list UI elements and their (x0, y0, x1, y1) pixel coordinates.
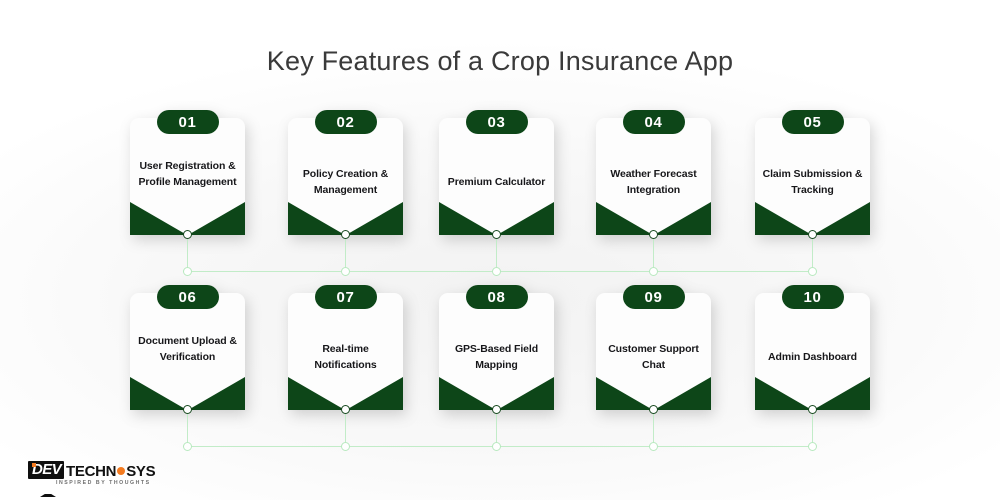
logo-name: TECHN SYS (66, 464, 155, 479)
page-title: Key Features of a Crop Insurance App (0, 46, 1000, 77)
bus-node-dot (649, 442, 658, 451)
card-number-badge: 01 (157, 110, 219, 134)
feature-card[interactable]: Customer Support Chat 09 (596, 285, 711, 410)
logo-wordmark: DEV TECHN SYS (28, 461, 153, 479)
corner-triangle-right-icon (188, 377, 245, 410)
bus-node-dot (183, 267, 192, 276)
card-body: Policy Creation & Management (288, 118, 403, 235)
card-connector-dot (649, 405, 658, 414)
feature-row-top: User Registration & Profile Management 0… (0, 110, 1000, 240)
card-number-badge: 04 (623, 110, 685, 134)
card-label: Claim Submission & Tracking (759, 152, 866, 214)
card-connector-dot (649, 230, 658, 239)
feature-card[interactable]: Admin Dashboard 10 (755, 285, 870, 410)
card-connector-dot (341, 405, 350, 414)
card-label: Policy Creation & Management (292, 152, 399, 214)
card-connector-dot (341, 230, 350, 239)
card-label: GPS-Based Field Mapping (443, 327, 550, 389)
feature-card[interactable]: Policy Creation & Management 02 (288, 110, 403, 235)
bus-node-dot (808, 267, 817, 276)
corner-triangle-right-icon (188, 202, 245, 235)
card-connector-dot (808, 230, 817, 239)
bus-node-dot (183, 442, 192, 451)
card-number-badge: 05 (782, 110, 844, 134)
card-body: Admin Dashboard (755, 293, 870, 410)
card-label: Admin Dashboard (759, 327, 866, 389)
corner-triangle-left-icon (130, 377, 187, 410)
card-label: Weather Forecast Integration (600, 152, 707, 214)
card-connector-dot (492, 405, 501, 414)
card-label: Document Upload & Verification (134, 319, 241, 381)
card-number-badge: 09 (623, 285, 685, 309)
card-body: GPS-Based Field Mapping (439, 293, 554, 410)
feature-card[interactable]: Weather Forecast Integration 04 (596, 110, 711, 235)
bus-node-dot (492, 442, 501, 451)
card-connector-dot (183, 405, 192, 414)
feature-card[interactable]: Premium Calculator 03 (439, 110, 554, 235)
bus-node-dot (341, 267, 350, 276)
feature-card[interactable]: GPS-Based Field Mapping 08 (439, 285, 554, 410)
logo-monitor-stand-icon (40, 494, 56, 497)
brand-logo[interactable]: DEV TECHN SYS INSPIRED BY THOUGHTS (28, 461, 153, 493)
card-label: Customer Support Chat (600, 327, 707, 389)
corner-triangle-left-icon (130, 202, 187, 235)
card-label: Premium Calculator (443, 152, 550, 214)
feature-card[interactable]: Claim Submission & Tracking 05 (755, 110, 870, 235)
infographic-canvas: Key Features of a Crop Insurance App Use… (0, 0, 1000, 500)
logo-dev-mark: DEV (28, 461, 64, 479)
card-number-badge: 10 (782, 285, 844, 309)
card-body: Weather Forecast Integration (596, 118, 711, 235)
logo-name-right: SYS (126, 464, 155, 479)
card-label: Real-time Notifications (292, 327, 399, 389)
bus-node-dot (341, 442, 350, 451)
card-label: User Registration & Profile Management (134, 144, 241, 206)
card-connector-dot (808, 405, 817, 414)
logo-name-left: TECHN (66, 464, 116, 479)
card-body: Premium Calculator (439, 118, 554, 235)
card-body: Real-time Notifications (288, 293, 403, 410)
feature-card[interactable]: User Registration & Profile Management 0… (130, 110, 245, 235)
card-number-badge: 07 (315, 285, 377, 309)
feature-card[interactable]: Document Upload & Verification 06 (130, 285, 245, 410)
card-connector-dot (183, 230, 192, 239)
feature-row-bottom: Document Upload & Verification 06 Real-t… (0, 285, 1000, 415)
card-connector-dot (492, 230, 501, 239)
bus-node-dot (492, 267, 501, 276)
card-body: Claim Submission & Tracking (755, 118, 870, 235)
card-number-badge: 08 (466, 285, 528, 309)
bus-node-dot (649, 267, 658, 276)
card-number-badge: 06 (157, 285, 219, 309)
card-body: Document Upload & Verification (130, 293, 245, 410)
card-number-badge: 03 (466, 110, 528, 134)
bus-node-dot (808, 442, 817, 451)
feature-card[interactable]: Real-time Notifications 07 (288, 285, 403, 410)
card-number-badge: 02 (315, 110, 377, 134)
gear-icon (117, 467, 125, 475)
card-body: User Registration & Profile Management (130, 118, 245, 235)
logo-tagline: INSPIRED BY THOUGHTS (56, 480, 153, 486)
card-body: Customer Support Chat (596, 293, 711, 410)
